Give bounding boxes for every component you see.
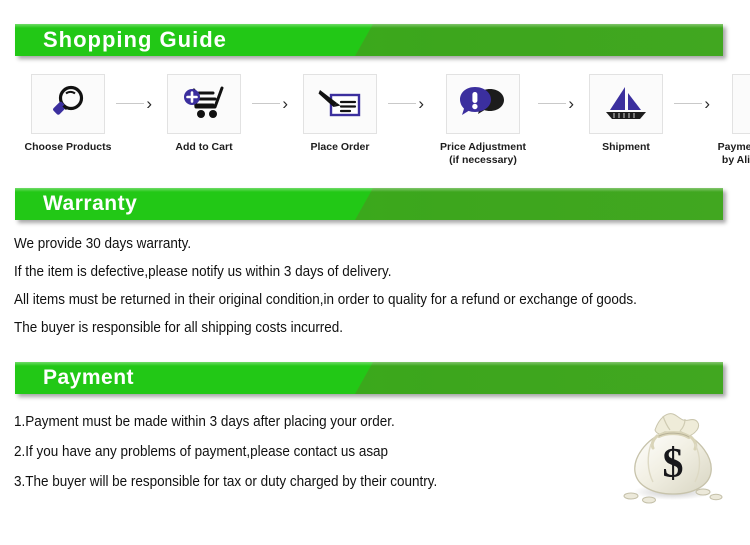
section-title-payment: Payment: [43, 362, 134, 394]
step-choose-products: Choose Products: [20, 74, 116, 154]
svg-text:$: $: [663, 441, 684, 487]
step-price-adjustment: Price Adjustment (if necessary): [428, 74, 538, 167]
chevron-right-icon: ›: [704, 95, 710, 112]
payment-line: 1.Payment must be made within 3 days aft…: [14, 414, 395, 430]
chevron-right-icon: ›: [418, 95, 424, 112]
pen-card-icon: [303, 74, 377, 134]
step-shipment: Shipment: [578, 74, 674, 154]
step-label: Choose Products: [25, 141, 112, 154]
section-banner-shopping-guide: Shopping Guide: [15, 24, 723, 56]
step-label-line2: by AliExpress(24h): [722, 154, 750, 166]
step-payment-verification: Payment verification by AliExpress(24h): [714, 74, 750, 167]
sailboat-icon: [589, 74, 663, 134]
warranty-line: If the item is defective,please notify u…: [14, 264, 392, 280]
step-arrow-2: ›: [252, 74, 292, 132]
section-title-shopping-guide: Shopping Guide: [43, 24, 227, 56]
chevron-right-icon: ›: [146, 95, 152, 112]
arrow-line: [252, 103, 280, 104]
step-arrow-3: ›: [388, 74, 428, 132]
arrow-line: [116, 103, 144, 104]
step-label: Place Order: [311, 141, 370, 154]
payment-line: 3.The buyer will be responsible for tax …: [14, 474, 437, 490]
step-label-line1: Payment verification: [718, 141, 750, 153]
step-arrow-1: ›: [116, 74, 156, 132]
chevron-right-icon: ›: [282, 95, 288, 112]
payment-line: 2.If you have any problems of payment,pl…: [14, 444, 388, 460]
chevron-right-icon: ›: [568, 95, 574, 112]
money-bag-icon: $: [615, 408, 735, 508]
speech-bubbles-icon: [446, 74, 520, 134]
step-arrow-4: ›: [538, 74, 578, 132]
step-place-order: Place Order: [292, 74, 388, 154]
arrow-line: [388, 103, 416, 104]
section-title-warranty: Warranty: [43, 188, 137, 220]
section-banner-payment: Payment: [15, 362, 723, 394]
step-arrow-5: ›: [674, 74, 714, 132]
warranty-line: All items must be returned in their orig…: [14, 292, 637, 308]
shopping-steps: Choose Products ›: [20, 74, 732, 170]
warranty-line: The buyer is responsible for all shippin…: [14, 320, 343, 336]
step-label-line1: Price Adjustment: [440, 141, 526, 153]
step-label: Shipment: [602, 141, 650, 154]
dollar-sign: $: [663, 441, 684, 487]
magnifier-icon: [31, 74, 105, 134]
step-label: Payment verification by AliExpress(24h): [718, 141, 750, 167]
shopping-guide-page: Shopping Guide Choose Products ›: [0, 0, 750, 545]
cart-plus-icon: [167, 74, 241, 134]
step-label: Price Adjustment (if necessary): [440, 141, 526, 167]
arrow-line: [538, 103, 566, 104]
step-label: Add to Cart: [175, 141, 232, 154]
warranty-line: We provide 30 days warranty.: [14, 236, 191, 252]
section-banner-warranty: Warranty: [15, 188, 723, 220]
step-label-line2: (if necessary): [449, 154, 517, 166]
dollar-globe-icon: [732, 74, 750, 134]
arrow-line: [674, 103, 702, 104]
step-add-to-cart: Add to Cart: [156, 74, 252, 154]
